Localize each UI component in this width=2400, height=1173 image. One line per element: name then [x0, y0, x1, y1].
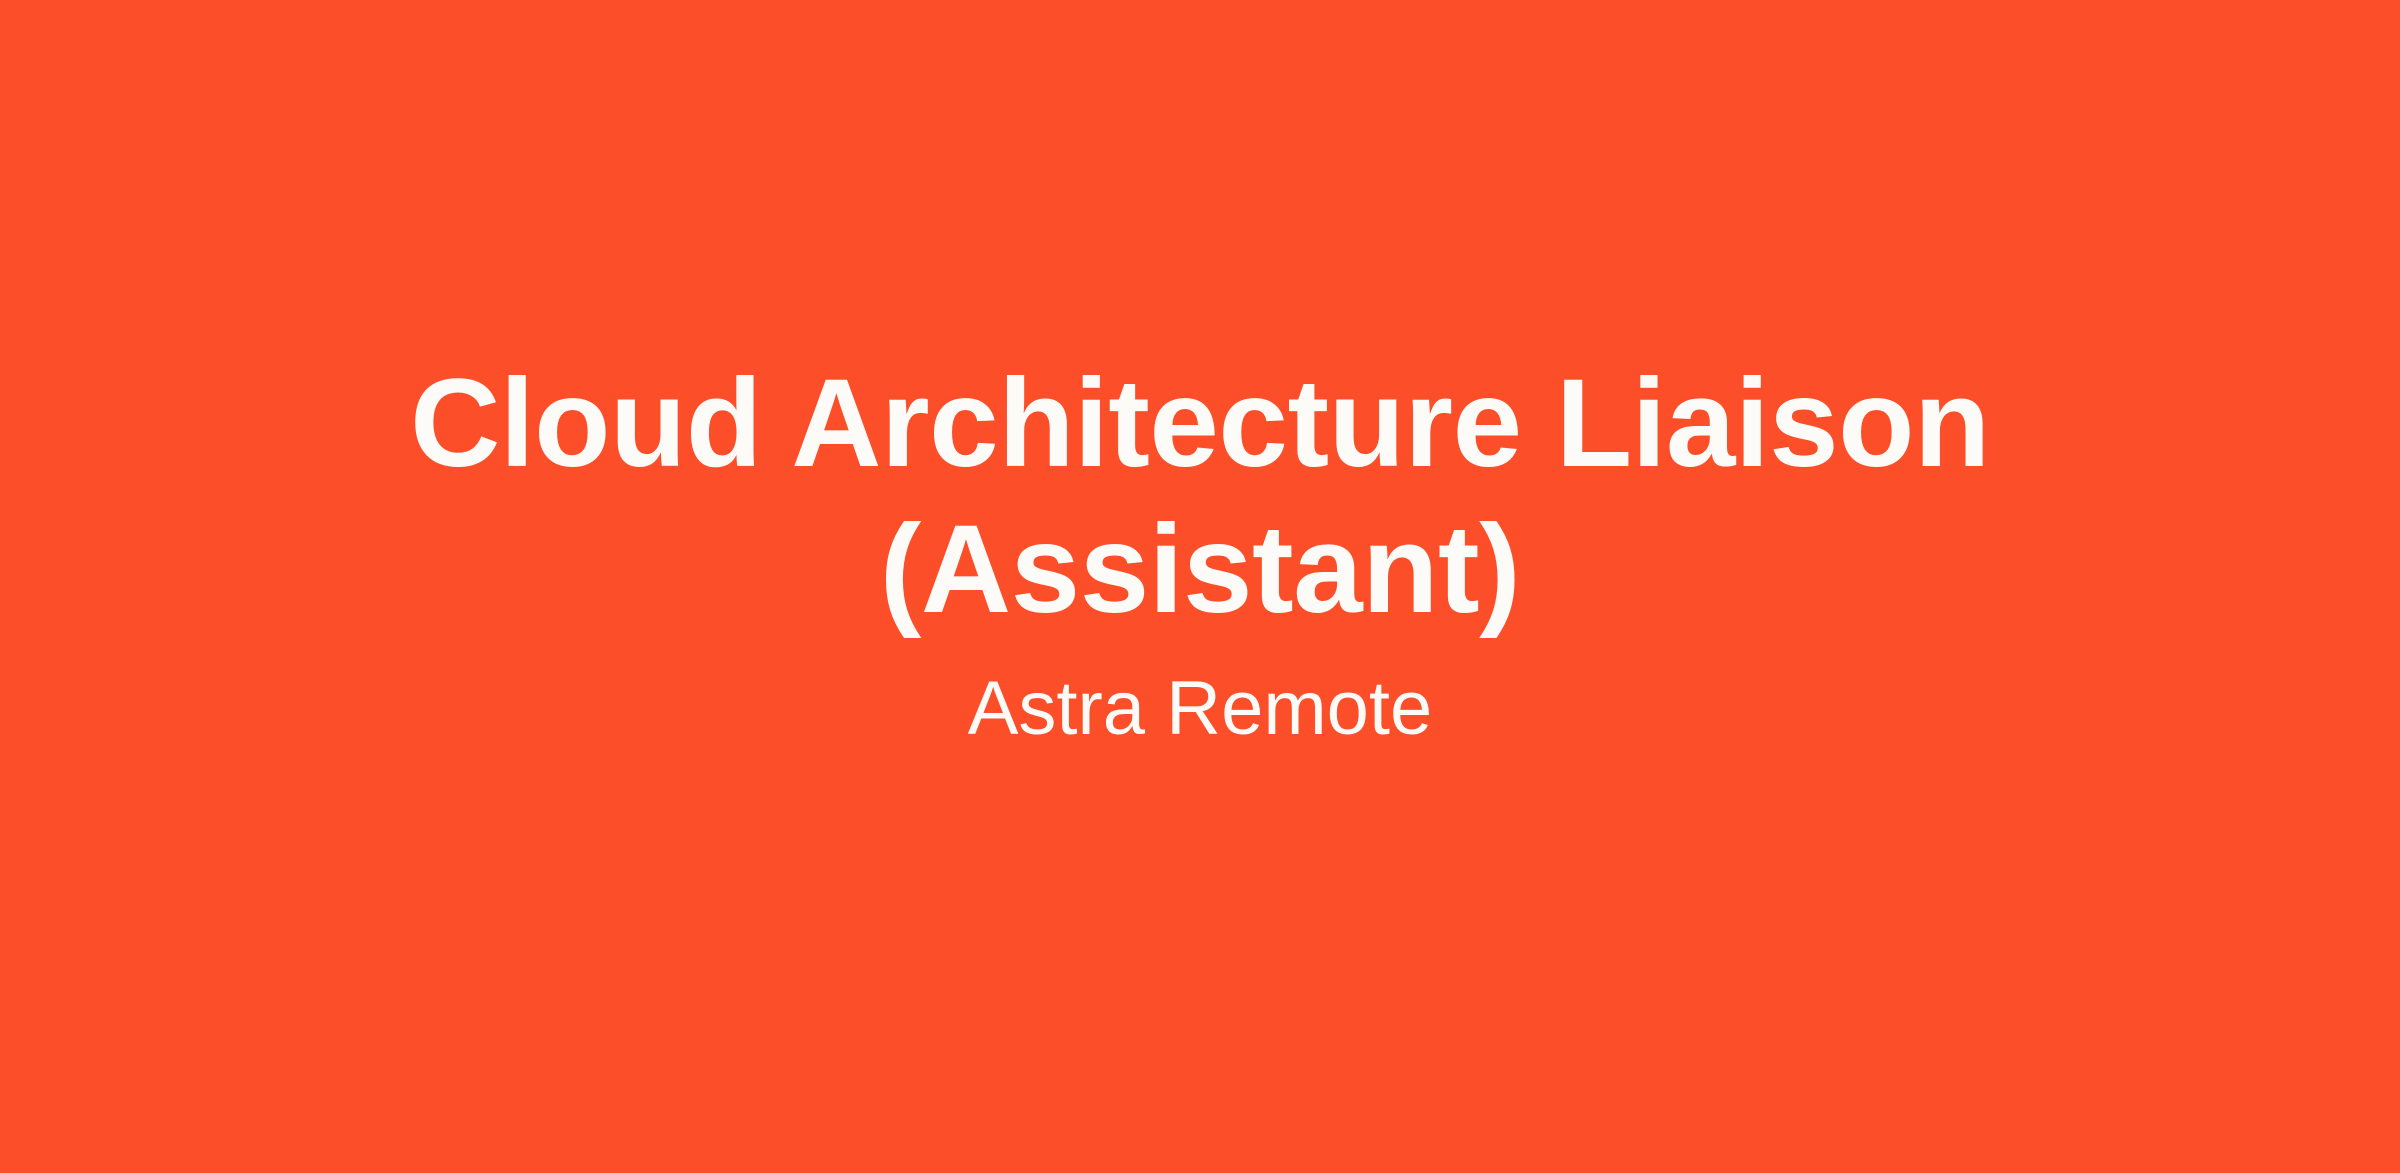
title-slide: Cloud Architecture Liaison (Assistant) A… — [0, 0, 2400, 1173]
page-title: Cloud Architecture Liaison (Assistant) — [350, 351, 2050, 644]
page-subtitle: Astra Remote — [968, 665, 1433, 752]
title-block: Cloud Architecture Liaison (Assistant) A… — [350, 351, 2050, 753]
